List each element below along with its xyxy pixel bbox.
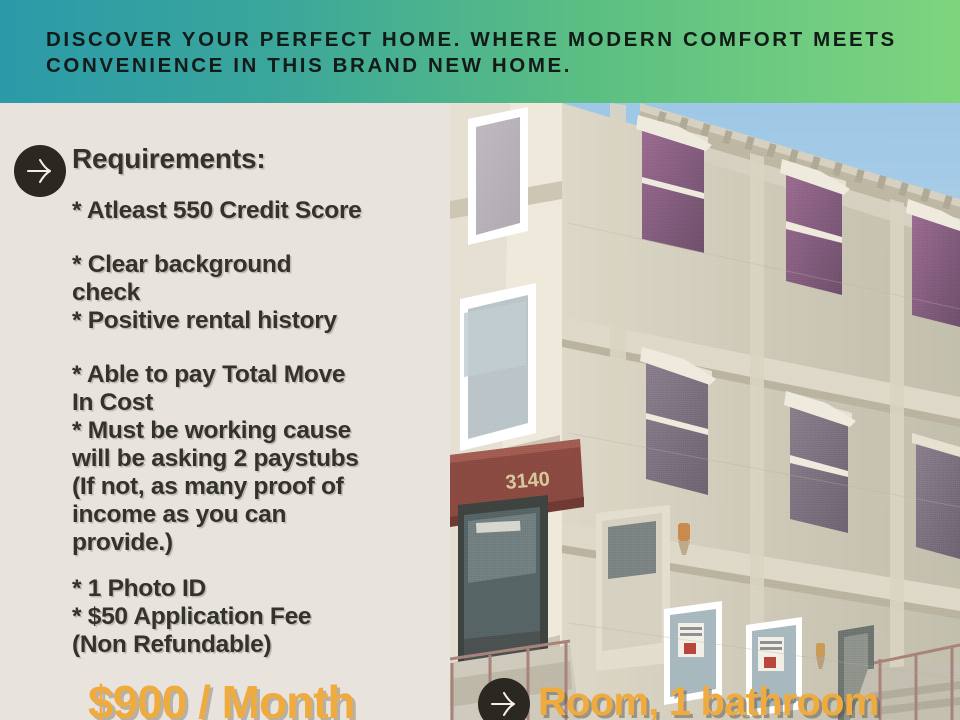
requirements-panel: Requirements: * Atleast 550 Credit Score… xyxy=(0,103,450,720)
building-facade-photo: 3140 xyxy=(450,103,960,720)
requirement-background-check: * Clear background check * Positive rent… xyxy=(72,251,337,335)
monthly-price: $900 / Month xyxy=(88,675,355,720)
header-banner: Discover your perfect home. Where modern… xyxy=(0,0,960,103)
rental-listing-poster: Discover your perfect home. Where modern… xyxy=(0,0,960,720)
banner-headline: Discover your perfect home. Where modern… xyxy=(46,27,946,79)
requirement-credit-score: * Atleast 550 Credit Score xyxy=(72,197,362,225)
house-number: 3140 xyxy=(505,468,551,494)
room-bathroom-label: Room, 1 bathroom xyxy=(538,680,879,720)
facade-illustration: 3140 xyxy=(450,103,960,720)
requirement-photo-id-fee: * 1 Photo ID * $50 Application Fee (Non … xyxy=(72,575,311,659)
requirements-title: Requirements: xyxy=(72,143,265,175)
requirement-move-in-cost: * Able to pay Total Move In Cost * Must … xyxy=(72,361,359,556)
arrow-right-glyph xyxy=(487,687,521,720)
arrow-right-glyph xyxy=(23,154,57,188)
arrow-right-icon xyxy=(14,145,66,197)
